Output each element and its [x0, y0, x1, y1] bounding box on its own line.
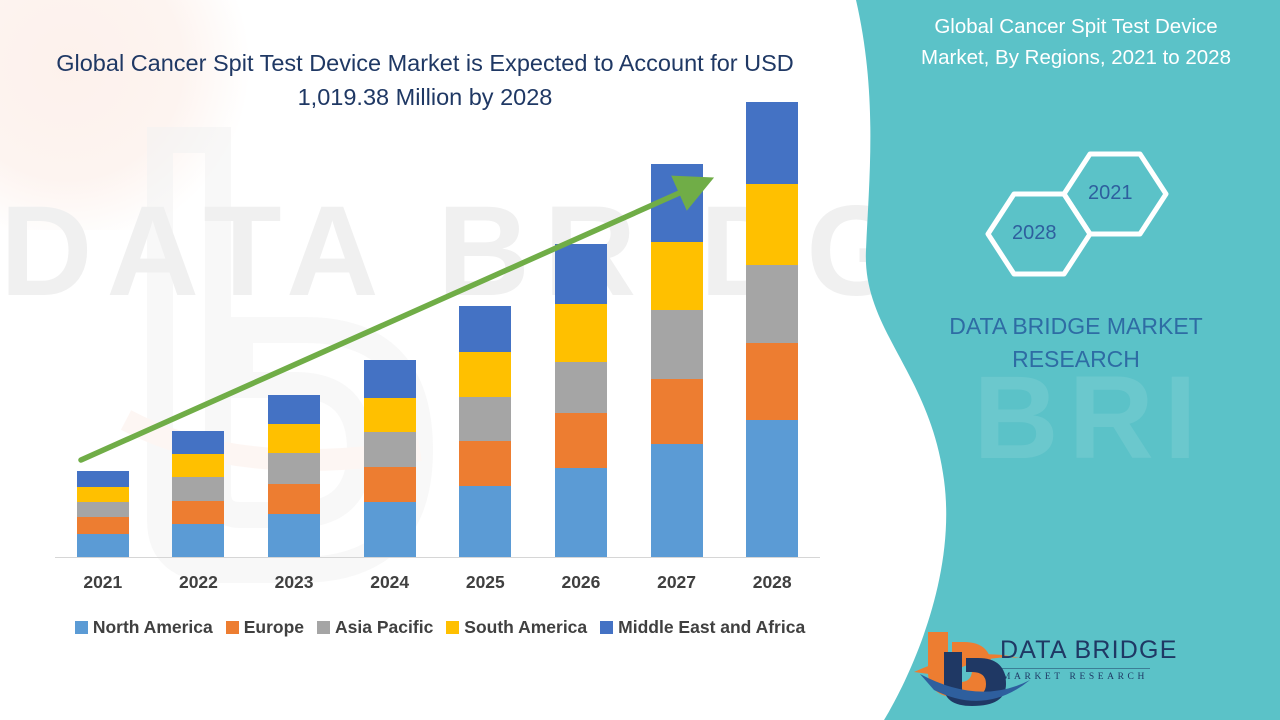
logo-divider [1000, 668, 1150, 669]
x-tick-2026: 2026 [533, 572, 629, 593]
legend-swatch-icon [446, 621, 459, 634]
page-title: Global Cancer Spit Test Device Market is… [40, 46, 810, 114]
legend-item-north-america[interactable]: North America [75, 617, 213, 638]
logo-subtitle: MARKET RESEARCH [1002, 672, 1148, 682]
legend-item-europe[interactable]: Europe [226, 617, 304, 638]
legend-label: Asia Pacific [335, 617, 433, 638]
x-tick-2028: 2028 [724, 572, 820, 593]
x-tick-2025: 2025 [437, 572, 533, 593]
side-panel-title: Global Cancer Spit Test Device Market, B… [900, 12, 1252, 74]
chart-legend: North AmericaEuropeAsia PacificSouth Ame… [55, 617, 825, 638]
legend-label: North America [93, 617, 213, 638]
legend-swatch-icon [226, 621, 239, 634]
hexagon-icon [970, 150, 1190, 285]
side-panel-content: Global Cancer Spit Test Device Market, B… [900, 0, 1280, 720]
x-tick-2021: 2021 [55, 572, 151, 593]
x-tick-2023: 2023 [246, 572, 342, 593]
hex-label-2028: 2028 [1012, 222, 1057, 245]
legend-item-south-america[interactable]: South America [446, 617, 587, 638]
hex-label-2021: 2021 [1088, 182, 1133, 205]
legend-swatch-icon [317, 621, 330, 634]
x-tick-2022: 2022 [150, 572, 246, 593]
legend-item-asia-pacific[interactable]: Asia Pacific [317, 617, 433, 638]
legend-label: Europe [244, 617, 304, 638]
brand-name: DATA BRIDGE MARKET RESEARCH [900, 310, 1252, 377]
legend-item-middle-east-and-africa[interactable]: Middle East and Africa [600, 617, 805, 638]
logo-wordmark: DATA BRIDGE [1000, 636, 1178, 665]
legend-label: South America [464, 617, 587, 638]
x-tick-2027: 2027 [629, 572, 725, 593]
trend-arrow-icon [55, 150, 820, 570]
x-axis-tick-labels: 20212022202320242025202620272028 [55, 572, 820, 602]
chart-panel: Global Cancer Spit Test Device Market is… [0, 0, 880, 720]
x-tick-2024: 2024 [342, 572, 438, 593]
legend-label: Middle East and Africa [618, 617, 805, 638]
hexagon-badges: 2021 2028 [970, 150, 1190, 285]
legend-swatch-icon [600, 621, 613, 634]
legend-swatch-icon [75, 621, 88, 634]
